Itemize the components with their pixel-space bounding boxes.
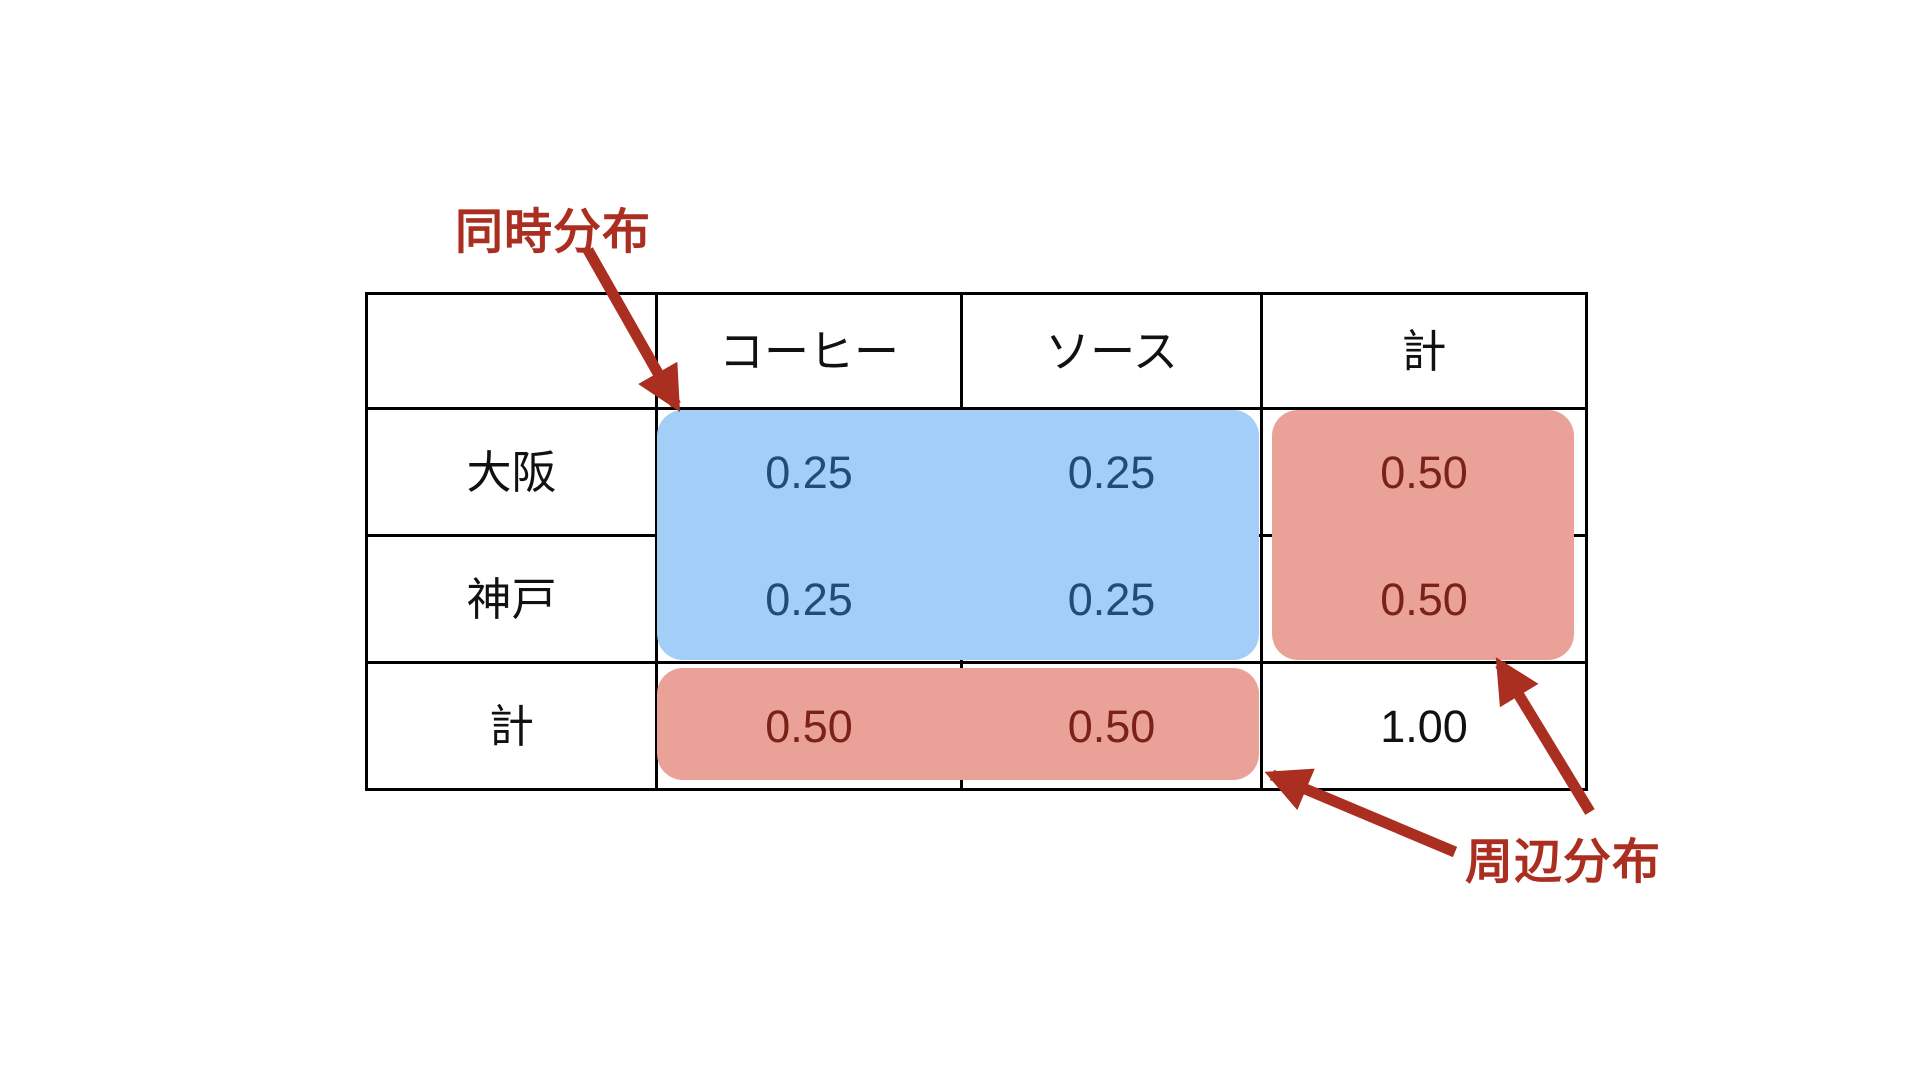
marginal-value: 0.50 <box>1263 450 1585 495</box>
column-header-label: ソース <box>963 329 1260 374</box>
joint-cell-osaka-sauce: 0.25 <box>962 409 1262 536</box>
joint-value: 0.25 <box>963 450 1260 495</box>
column-header-label: 計 <box>1263 329 1585 374</box>
figure-canvas: コーヒー ソース 計 大阪 0.25 <box>0 0 1920 1080</box>
column-header-label: コーヒー <box>658 329 960 374</box>
joint-value: 0.25 <box>658 450 960 495</box>
joint-cell-osaka-coffee: 0.25 <box>657 409 962 536</box>
table-corner-cell <box>367 294 657 409</box>
column-header-total: 計 <box>1262 294 1587 409</box>
marginal-cell-total-coffee: 0.50 <box>657 663 962 790</box>
table-total-row: 計 0.50 0.50 1.00 <box>367 663 1587 790</box>
marginal-value: 0.50 <box>963 704 1260 749</box>
table-header-row: コーヒー ソース 計 <box>367 294 1587 409</box>
column-header-coffee: コーヒー <box>657 294 962 409</box>
marginal-cell-osaka-total: 0.50 <box>1262 409 1587 536</box>
column-header-sauce: ソース <box>962 294 1262 409</box>
marginal-value: 0.50 <box>1263 577 1585 622</box>
marginal-cell-kobe-total: 0.50 <box>1262 536 1587 663</box>
joint-cell-kobe-coffee: 0.25 <box>657 536 962 663</box>
row-header-total: 計 <box>367 663 657 790</box>
grand-total-cell: 1.00 <box>1262 663 1587 790</box>
table-row: 神戸 0.25 0.25 0.50 <box>367 536 1587 663</box>
distribution-table: コーヒー ソース 計 大阪 0.25 <box>365 292 1588 791</box>
row-header-label: 大阪 <box>368 450 655 495</box>
joint-value: 0.25 <box>658 577 960 622</box>
row-header-label: 計 <box>368 704 655 749</box>
row-header-osaka: 大阪 <box>367 409 657 536</box>
grand-total-value: 1.00 <box>1263 704 1585 749</box>
distribution-table-container: コーヒー ソース 計 大阪 0.25 <box>365 292 1585 790</box>
joint-value: 0.25 <box>963 577 1260 622</box>
row-header-kobe: 神戸 <box>367 536 657 663</box>
row-header-label: 神戸 <box>368 577 655 622</box>
joint-cell-kobe-sauce: 0.25 <box>962 536 1262 663</box>
marginal-value: 0.50 <box>658 704 960 749</box>
marginal-cell-total-sauce: 0.50 <box>962 663 1262 790</box>
marginal-distribution-label: 周辺分布 <box>1465 822 1661 892</box>
table-row: 大阪 0.25 0.25 0.50 <box>367 409 1587 536</box>
joint-distribution-label: 同時分布 <box>455 192 651 262</box>
